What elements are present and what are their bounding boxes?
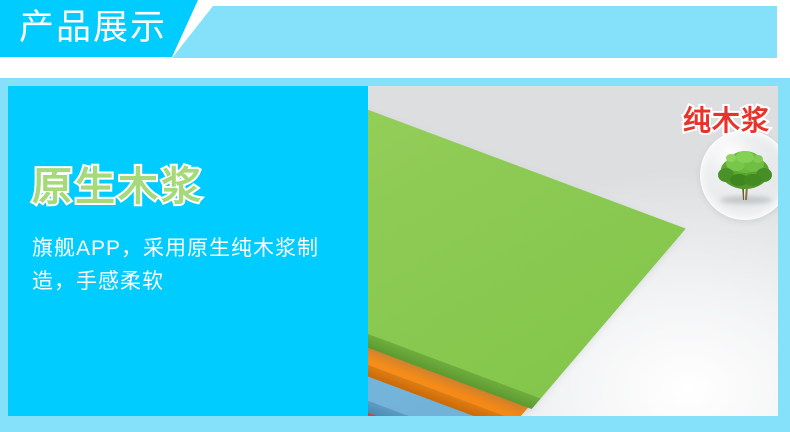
feature-text-panel: 原生木浆 旗舰APP，采用原生纯木浆制造，手感柔软 [8, 86, 368, 416]
pure-pulp-label: 纯木浆 [683, 104, 770, 138]
page-title: 产品展示 [19, 5, 167, 51]
glass-bubble-icon [700, 130, 778, 220]
feature-title: 原生木浆 [32, 164, 204, 210]
paper-face [368, 86, 686, 399]
header-banner: 产品展示 [0, 0, 790, 58]
header-accent-bar [172, 6, 777, 58]
tree-icon [712, 144, 778, 210]
paper-sheet-green [368, 86, 686, 399]
feature-description: 旗舰APP，采用原生纯木浆制造，手感柔软 [32, 232, 362, 298]
content-inner: 原生木浆 旗舰APP，采用原生纯木浆制造，手感柔软 [8, 86, 778, 416]
content-frame: 原生木浆 旗舰APP，采用原生纯木浆制造，手感柔软 [0, 78, 790, 432]
product-photo: 纯木浆 [368, 86, 778, 416]
